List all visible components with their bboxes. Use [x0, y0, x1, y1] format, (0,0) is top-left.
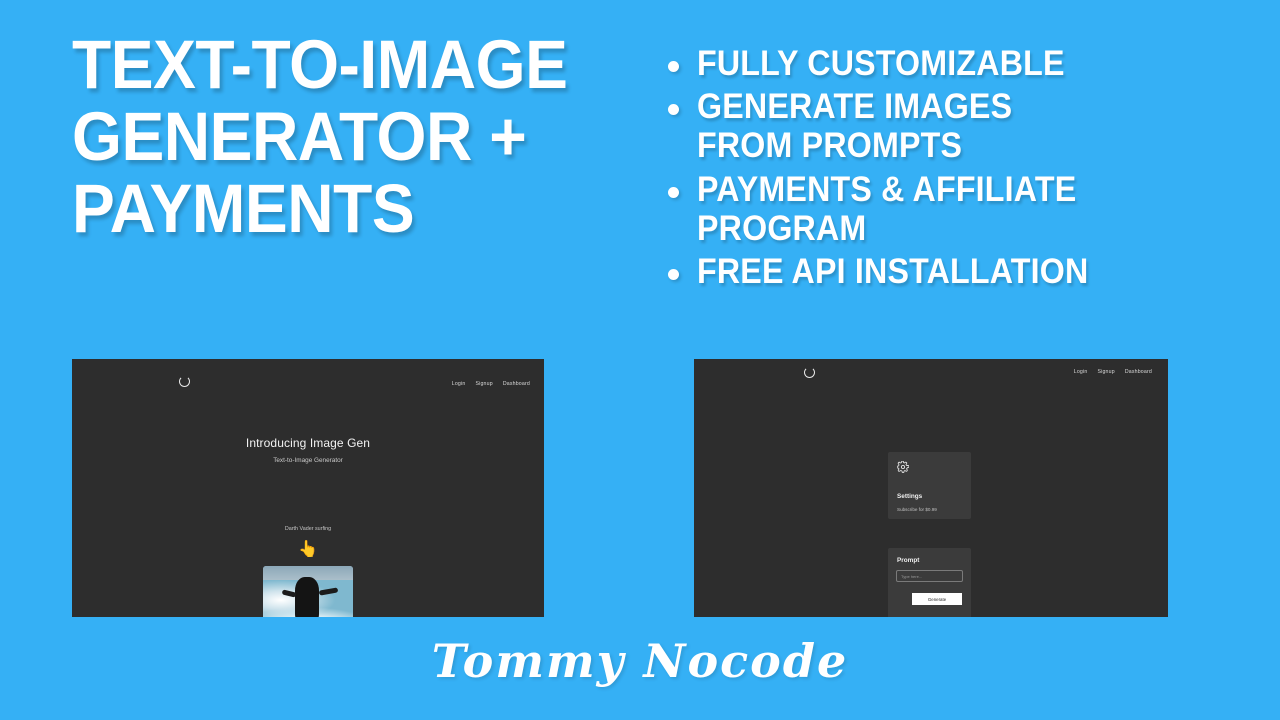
nav-link-login[interactable]: Login: [1074, 369, 1088, 375]
screenshot-panel-dashboard: Login Signup Dashboard Settings Subscrib…: [694, 359, 1168, 617]
generated-image-preview: [263, 566, 353, 617]
screenshot-panel-landing: Login Signup Dashboard Introducing Image…: [72, 359, 544, 617]
ring-logo-icon: [804, 367, 815, 378]
list-item: Free API installation: [668, 252, 1228, 291]
settings-card[interactable]: Settings Subscribe for $0.99: [888, 452, 971, 519]
dashboard-navbar: Login Signup Dashboard: [694, 359, 1168, 393]
nav-link-signup[interactable]: Signup: [1097, 369, 1114, 375]
bullet-label-1: Fully customizable: [697, 44, 1065, 83]
nav-link-dashboard[interactable]: Dashboard: [503, 381, 530, 387]
headline-line-3: Payments: [72, 176, 611, 243]
bullet-dot-icon: [668, 269, 679, 280]
landing-navbar: Login Signup Dashboard: [72, 359, 544, 393]
headline-line-1: Text-to-Image: [72, 32, 611, 99]
prompt-card: Prompt Type here... Generate: [888, 548, 971, 617]
landing-prompt-echo: Darth Vader surfing: [72, 526, 544, 532]
nav-link-dashboard[interactable]: Dashboard: [1125, 369, 1152, 375]
image-figure-vader: [295, 577, 318, 617]
landing-nav-links: Login Signup Dashboard: [452, 381, 530, 387]
prompt-input[interactable]: Type here...: [896, 570, 963, 582]
feature-bullet-list: Fully customizable Generate images from …: [668, 44, 1228, 295]
settings-card-title: Settings: [897, 493, 922, 500]
bullet-dot-icon: [668, 187, 679, 198]
prompt-card-title: Prompt: [897, 557, 919, 564]
list-item: Generate images from prompts: [668, 87, 1228, 165]
bullet-label-4: Free API installation: [697, 252, 1088, 291]
bullet-label-2: Generate images from prompts: [697, 87, 1093, 165]
list-item: Payments & affiliate program: [668, 170, 1228, 248]
gear-icon: [897, 461, 909, 473]
landing-hero-title: Introducing Image Gen: [72, 436, 544, 450]
bullet-dot-icon: [668, 61, 679, 72]
settings-card-subtitle[interactable]: Subscribe for $0.99: [897, 507, 937, 512]
bullet-dot-icon: [668, 104, 679, 115]
list-item: Fully customizable: [668, 44, 1228, 83]
nav-link-login[interactable]: Login: [452, 381, 466, 387]
dashboard-nav-links: Login Signup Dashboard: [1074, 369, 1152, 375]
nav-link-signup[interactable]: Signup: [475, 381, 492, 387]
page-title: Text-to-Image Generator + Payments: [72, 32, 652, 248]
bullet-label-3: Payments & affiliate program: [697, 170, 1093, 248]
slide-canvas: Text-to-Image Generator + Payments Fully…: [0, 0, 1280, 720]
pointing-hand-icon: 👆: [72, 542, 544, 558]
generate-button[interactable]: Generate: [912, 593, 962, 605]
channel-signature: Tommy Nocode: [0, 634, 1280, 688]
headline-line-2: Generator +: [72, 104, 611, 171]
ring-logo-icon: [179, 376, 190, 387]
landing-hero-subtitle: Text-to-Image Generator: [72, 457, 544, 464]
